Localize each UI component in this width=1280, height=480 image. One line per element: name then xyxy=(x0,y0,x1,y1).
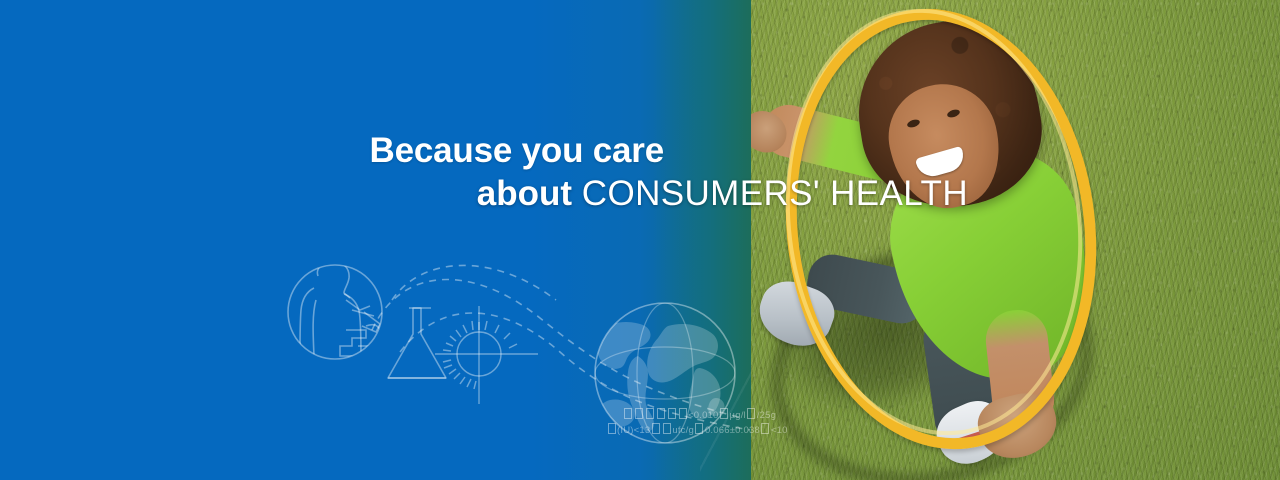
hero-banner: <0.010µg/l/25g (IU)<13ufc/g0.066±0.038<1… xyxy=(0,0,1280,480)
unknown-glyph-box xyxy=(695,423,703,434)
lab-value-2: 0.066±0.038 xyxy=(705,425,760,436)
unknown-glyph-box xyxy=(608,423,616,434)
unknown-glyph-box xyxy=(652,423,660,434)
lab-unit-1: µg/l xyxy=(730,410,746,421)
lab-value-1: <0.010 xyxy=(688,410,719,421)
lab-values-microtext: <0.010µg/l/25g (IU)<13ufc/g0.066±0.038<1… xyxy=(622,408,852,438)
lab-values-line-1: <0.010µg/l/25g xyxy=(622,408,852,423)
unknown-glyph-box xyxy=(663,423,671,434)
lab-suffix-2: <10 xyxy=(771,425,788,436)
lab-prefix-2: (IU)<13 xyxy=(617,425,650,436)
unknown-glyph-box xyxy=(668,408,676,419)
erlenmeyer-flask-icon xyxy=(388,308,446,378)
unknown-glyph-box xyxy=(646,408,654,419)
scientist-microscope-icon xyxy=(288,261,382,359)
lab-unit-2: ufc/g xyxy=(672,425,694,436)
unknown-glyph-box xyxy=(679,408,687,419)
unknown-glyph-box xyxy=(747,408,755,419)
unknown-glyph-box xyxy=(635,408,643,419)
unknown-glyph-box xyxy=(624,408,632,419)
unknown-glyph-box xyxy=(761,423,769,434)
lab-values-line-2: (IU)<13ufc/g0.066±0.038<10 xyxy=(606,423,852,438)
unknown-glyph-box xyxy=(657,408,665,419)
crosshair-target-icon xyxy=(435,306,538,404)
lab-suffix-1: /25g xyxy=(757,410,776,421)
unknown-glyph-box xyxy=(720,408,728,419)
